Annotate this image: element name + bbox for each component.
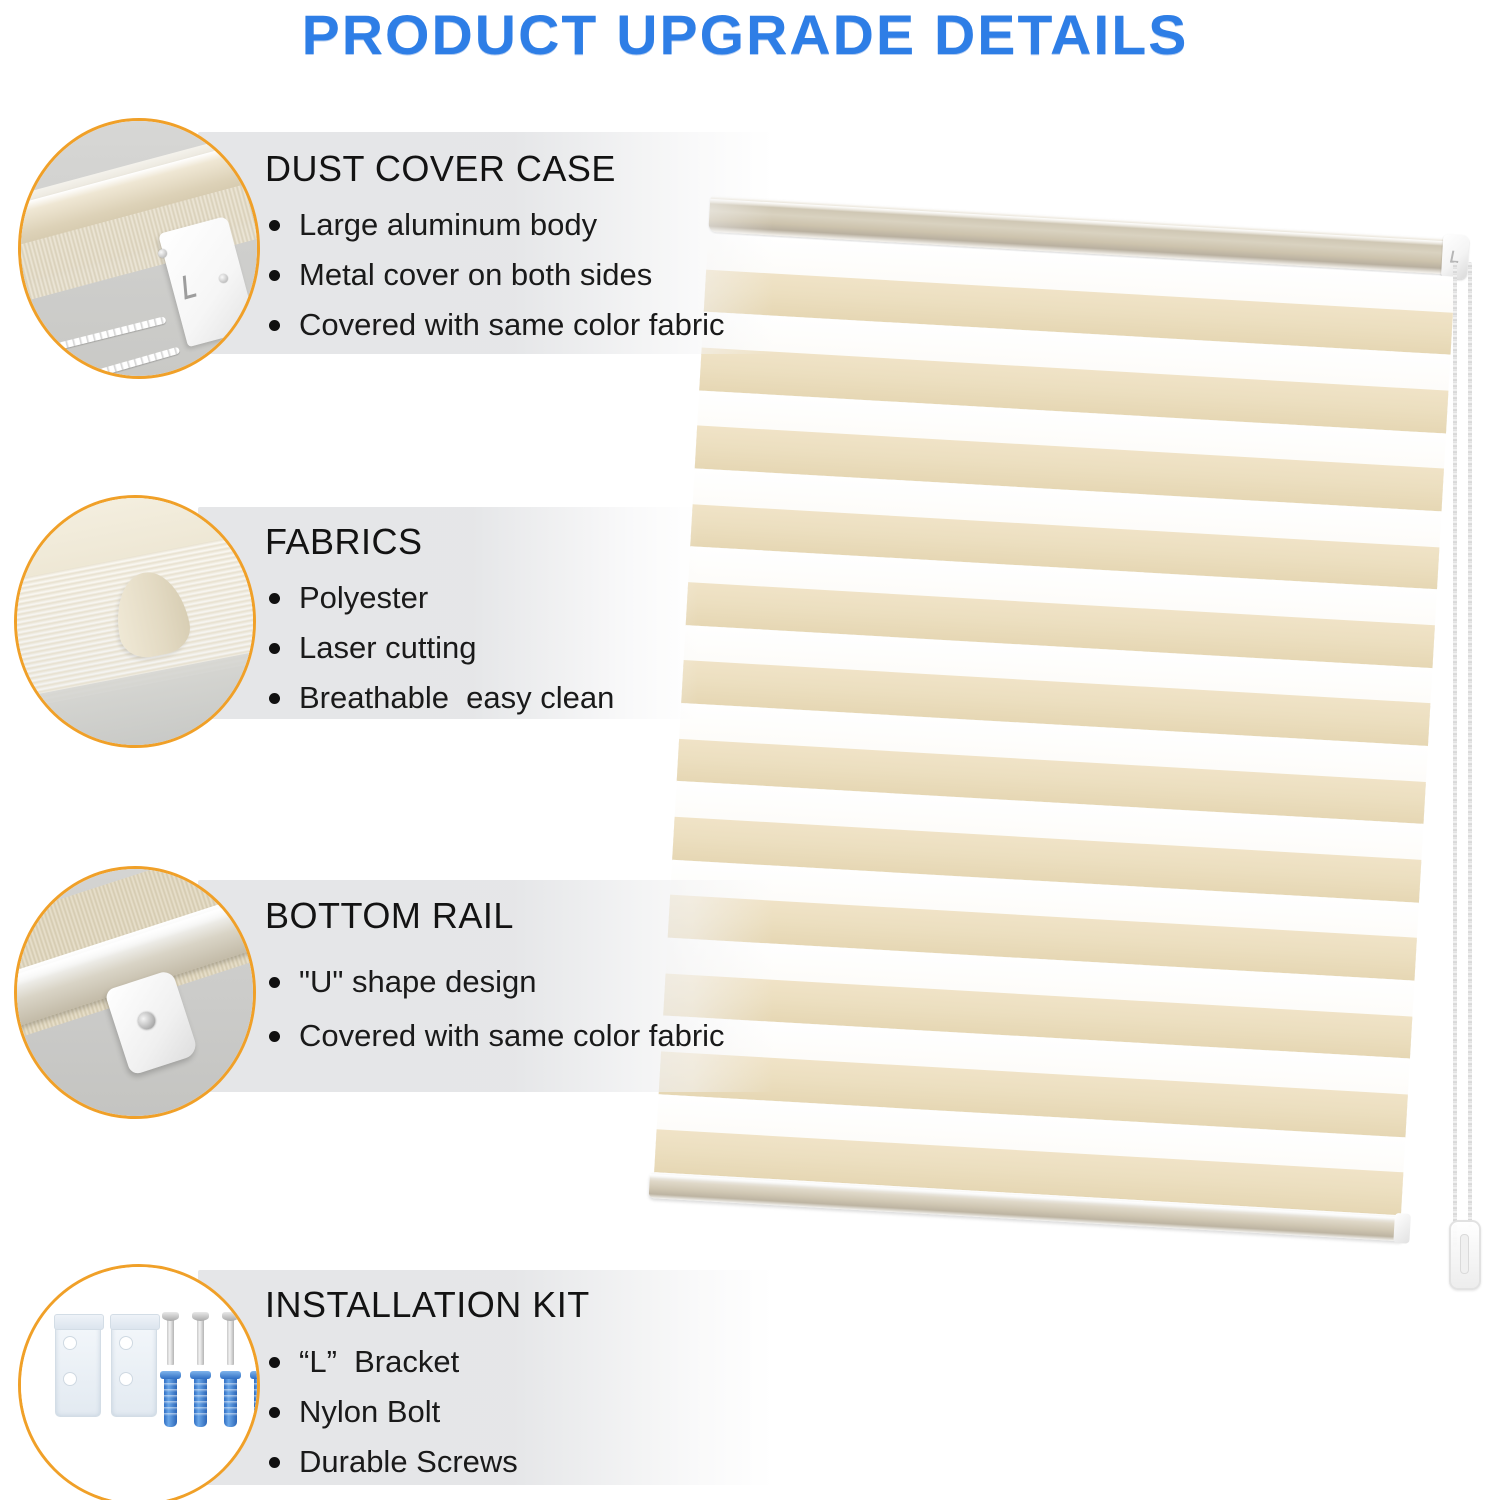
- l-bracket-1: [55, 1323, 101, 1417]
- list-item: Covered with same color fabric: [265, 307, 725, 343]
- feature-installation-kit: INSTALLATION KIT “L” Bracket Nylon Bolt …: [0, 1262, 790, 1500]
- bottom-rail-photo: [14, 866, 256, 1119]
- feature-bullet-list: Large aluminum body Metal cover on both …: [265, 207, 725, 343]
- infographic-canvas: PRODUCT UPGRADE DETAILS: [0, 0, 1490, 1500]
- feature-bullet-list: Polyester Laser cutting Breathable easy …: [265, 580, 614, 716]
- nylon-anchor-4: [254, 1375, 257, 1427]
- page-title: PRODUCT UPGRADE DETAILS: [0, 2, 1490, 67]
- screw-1: [167, 1317, 174, 1365]
- feature-title: DUST COVER CASE: [265, 148, 616, 190]
- list-item: Breathable easy clean: [265, 680, 614, 716]
- list-item: "U" shape design: [265, 964, 725, 1000]
- nylon-anchor-1: [164, 1375, 177, 1427]
- list-item: Covered with same color fabric: [265, 1018, 725, 1054]
- screw-3: [227, 1317, 234, 1365]
- feature-dust-cover-case: DUST COVER CASE Large aluminum body Meta…: [0, 110, 790, 380]
- feature-title: INSTALLATION KIT: [265, 1284, 590, 1326]
- list-item: Laser cutting: [265, 630, 614, 666]
- feature-fabrics: FABRICS Polyester Laser cutting Breathab…: [0, 487, 700, 742]
- feature-bullet-list: "U" shape design Covered with same color…: [265, 964, 725, 1054]
- screw-2: [197, 1317, 204, 1365]
- fabrics-photo: [14, 495, 256, 748]
- bottom-rail-end-cap: [1393, 1213, 1411, 1244]
- list-item: Nylon Bolt: [265, 1394, 518, 1430]
- product-image: [700, 225, 1490, 1345]
- chain-strand-left: [1453, 262, 1457, 1247]
- chain-strand-right: [1468, 262, 1472, 1227]
- list-item: Polyester: [265, 580, 614, 616]
- nylon-anchor-2: [194, 1375, 207, 1427]
- installation-kit-photo: [18, 1264, 260, 1500]
- l-bracket-2: [111, 1323, 157, 1417]
- chain-connector: [1449, 1220, 1481, 1290]
- feature-bullet-list: “L” Bracket Nylon Bolt Durable Screws: [265, 1344, 518, 1480]
- feature-bottom-rail: BOTTOM RAIL "U" shape design Covered wit…: [0, 858, 790, 1113]
- list-item: Durable Screws: [265, 1444, 518, 1480]
- feature-title: BOTTOM RAIL: [265, 895, 514, 937]
- list-item: Metal cover on both sides: [265, 257, 725, 293]
- dust-cover-case-photo: [18, 118, 260, 379]
- list-item: “L” Bracket: [265, 1344, 518, 1380]
- nylon-anchor-3: [224, 1375, 237, 1427]
- list-item: Large aluminum body: [265, 207, 725, 243]
- bead-chain[interactable]: [1447, 262, 1487, 1262]
- feature-title: FABRICS: [265, 521, 423, 563]
